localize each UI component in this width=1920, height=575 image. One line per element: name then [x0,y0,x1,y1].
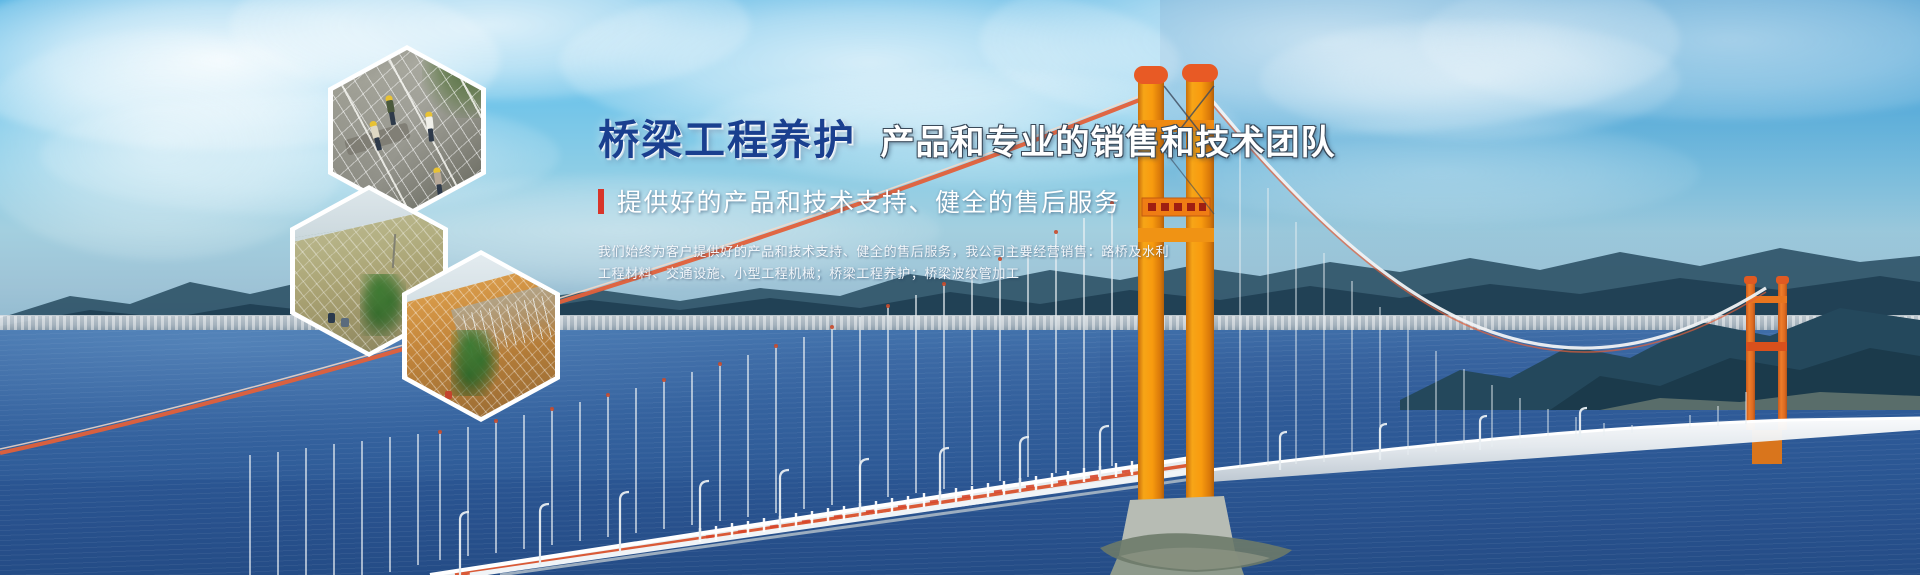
hex-photo-rockfall-mesh[interactable] [328,45,486,217]
photo-orange-slope-netting [407,255,555,417]
tagline-text: 提供好的产品和技术支持、健全的售后服务 [617,183,1121,219]
description: 我们始终为客户提供好的产品和技术支持、健全的售后服务，我公司主要经营销售：路桥及… [598,241,1498,285]
worker [341,318,349,327]
description-line: 我们始终为客户提供好的产品和技术支持、健全的售后服务，我公司主要经营销售：路桥及… [598,241,1498,263]
suspension-bridge [0,0,1920,575]
accent-bar [598,189,604,214]
hero-banner: 桥梁工程养护 产品和专业的销售和技术团队 提供好的产品和技术支持、健全的售后服务… [0,0,1920,575]
banner-text-block: 桥梁工程养护 产品和专业的销售和技术团队 提供好的产品和技术支持、健全的售后服务… [598,120,1498,285]
tagline: 提供好的产品和技术支持、健全的售后服务 [598,183,1498,219]
foreground-tree [451,330,499,396]
headline-sub: 产品和专业的销售和技术团队 [880,124,1335,162]
worker [328,313,335,323]
foreground-tree [360,274,406,336]
hex-photo-cluster [290,45,630,415]
photo-rockfall-mesh [333,50,481,212]
bridge-deck [430,455,1214,575]
headline: 桥梁工程养护 产品和专业的销售和技术团队 [598,120,1498,161]
mesh-support-cable [333,50,481,212]
description-line: 工程材料、交通设施、小型工程机械；桥梁工程养护；桥梁波纹管加工 [598,263,1498,285]
worker [445,391,452,399]
headline-main: 桥梁工程养护 [598,117,856,163]
